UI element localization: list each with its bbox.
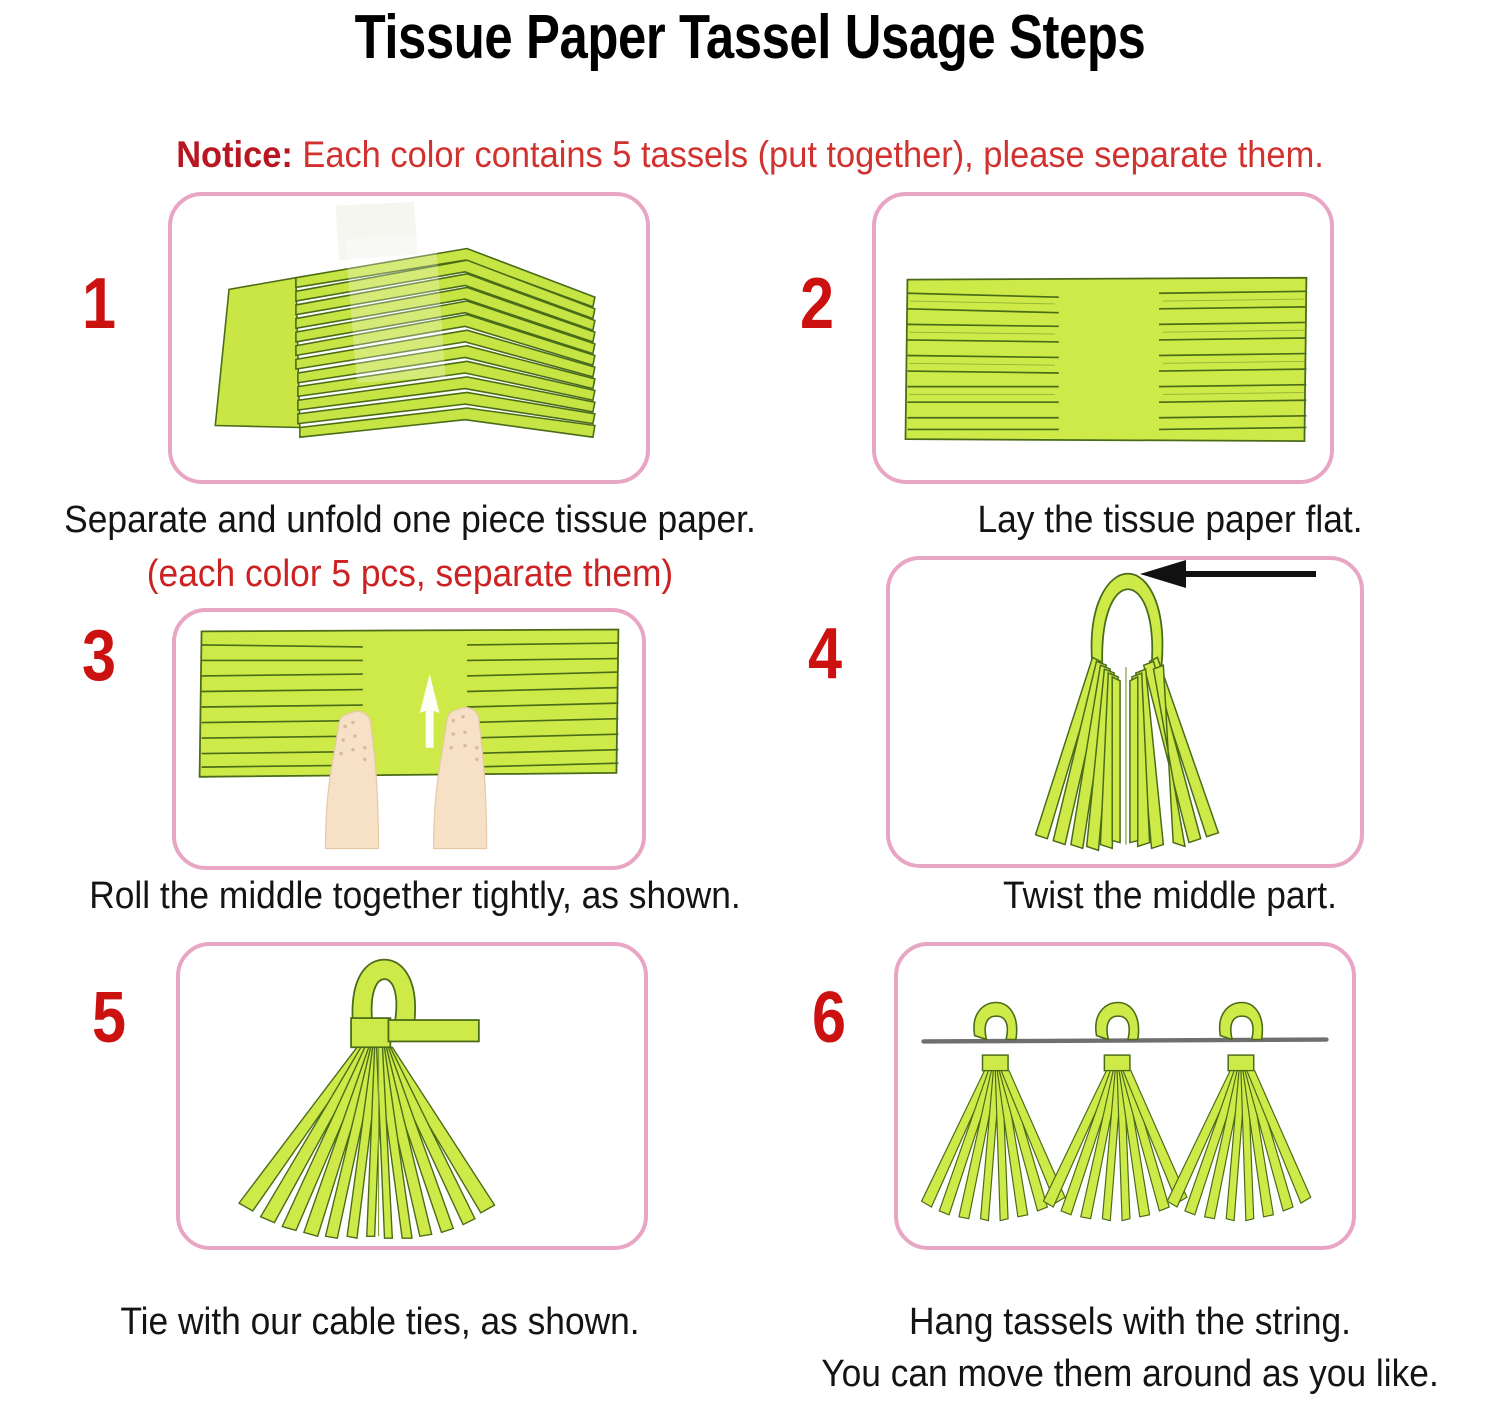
tied-tassel-with-cable-tie-illustration <box>180 946 644 1246</box>
flat-fringed-tissue-paper-illustration <box>876 196 1330 480</box>
step-panel-2 <box>872 192 1334 484</box>
notice-label: Notice: <box>176 134 293 175</box>
step-panel-6 <box>894 942 1356 1250</box>
step-caption-6-sub: You can move them around as you like. <box>786 1352 1474 1397</box>
step-caption-2: Lay the tissue paper flat. <box>863 498 1477 543</box>
step-panel-5 <box>176 942 648 1250</box>
step-panel-1 <box>168 192 650 484</box>
hands-rolling-middle-illustration <box>176 612 642 866</box>
notice-line: Notice: Each color contains 5 tassels (p… <box>53 134 1448 176</box>
step-panel-4 <box>886 556 1364 868</box>
step-number-1: 1 <box>82 268 116 340</box>
notice-text: Each color contains 5 tassels (put toget… <box>293 134 1324 175</box>
step-caption-1-sub: (each color 5 pcs, separate them) <box>29 552 792 597</box>
step-number-6: 6 <box>812 982 846 1054</box>
folded-tassel-with-loop-illustration <box>890 560 1360 864</box>
three-tassels-hanging-on-string-illustration <box>898 946 1352 1246</box>
page-title: Tissue Paper Tassel Usage Steps <box>135 2 1365 73</box>
step-caption-3: Roll the middle together tightly, as sho… <box>29 874 801 919</box>
step-caption-6: Hang tassels with the string. <box>786 1300 1474 1345</box>
step-number-4: 4 <box>808 618 842 690</box>
hanging-tassel <box>1043 1002 1186 1220</box>
fringed-tissue-paper-stack-illustration <box>172 196 646 480</box>
hanging-tassel <box>1167 1002 1310 1220</box>
hanging-tassel <box>922 1002 1065 1220</box>
step-caption-5: Tie with our cable ties, as shown. <box>27 1300 734 1345</box>
step-caption-1: Separate and unfold one piece tissue pap… <box>29 498 792 543</box>
step-caption-4: Twist the middle part. <box>863 874 1477 919</box>
step-number-2: 2 <box>800 268 834 340</box>
step-number-3: 3 <box>82 620 116 692</box>
instruction-sheet: Tissue Paper Tassel Usage Steps Notice: … <box>0 0 1500 1404</box>
step-number-5: 5 <box>92 982 126 1054</box>
step-panel-3 <box>172 608 646 870</box>
